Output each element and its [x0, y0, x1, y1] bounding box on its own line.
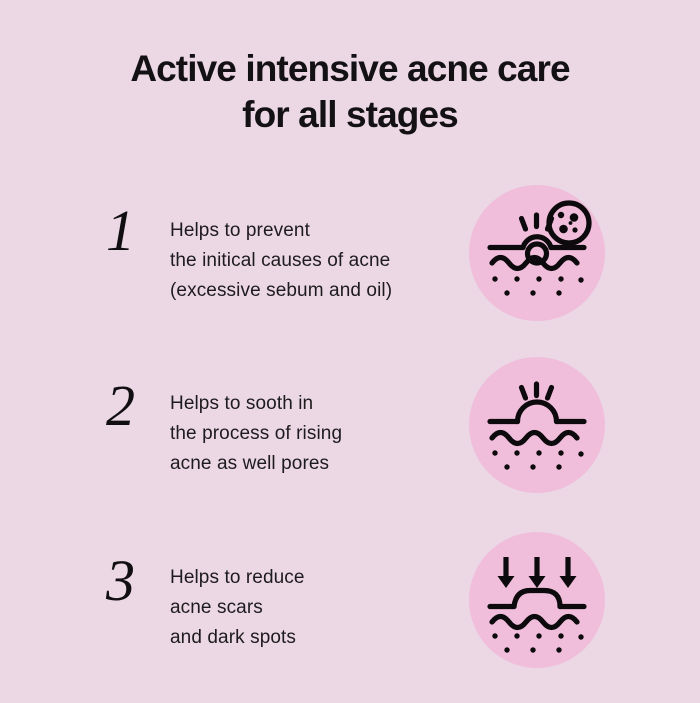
- item-numeral: 2: [106, 377, 164, 435]
- item-icon-badge: [469, 357, 605, 493]
- item-text-line: and dark spots: [170, 623, 455, 653]
- item-text-line: the process of rising: [170, 419, 455, 449]
- page-title: Active intensive acne care for all stage…: [0, 46, 700, 138]
- list-item: 3 Helps to reduce acne scars and dark sp…: [0, 528, 700, 703]
- item-text-line: (excessive sebum and oil): [170, 276, 455, 306]
- list-item: 2 Helps to sooth in the process of risin…: [0, 353, 700, 528]
- item-icon-badge: [469, 185, 605, 321]
- title-line-2: for all stages: [0, 92, 700, 138]
- poster: Active intensive acne care for all stage…: [0, 0, 700, 700]
- item-text: Helps to sooth in the process of rising …: [170, 389, 455, 479]
- benefit-list: 1 Helps to prevent the initical causes o…: [0, 178, 700, 703]
- item-text-line: acne as well pores: [170, 449, 455, 479]
- item-text-line: Helps to reduce: [170, 563, 455, 593]
- skin-dots: [492, 633, 583, 652]
- item-text-line: Helps to prevent: [170, 216, 455, 246]
- item-text-line: the initical causes of acne: [170, 246, 455, 276]
- down-arrows: [506, 557, 568, 579]
- down-arrow-heads: [498, 576, 577, 588]
- skin-pore-bacteria-icon: [469, 185, 605, 321]
- skin-flattening-arrows-icon: [469, 532, 605, 668]
- item-numeral: 1: [106, 202, 164, 260]
- bacteria-spots: [558, 212, 579, 234]
- skin-rising-pimple-icon: [469, 357, 605, 493]
- skin-dots: [492, 450, 583, 469]
- list-item: 1 Helps to prevent the initical causes o…: [0, 178, 700, 353]
- item-text: Helps to reduce acne scars and dark spot…: [170, 563, 455, 653]
- title-line-1: Active intensive acne care: [0, 46, 700, 92]
- skin-dots: [492, 276, 583, 295]
- item-text: Helps to prevent the initical causes of …: [170, 216, 455, 306]
- item-numeral: 3: [106, 552, 164, 610]
- item-text-line: Helps to sooth in: [170, 389, 455, 419]
- item-text-line: acne scars: [170, 593, 455, 623]
- item-icon-badge: [469, 532, 605, 668]
